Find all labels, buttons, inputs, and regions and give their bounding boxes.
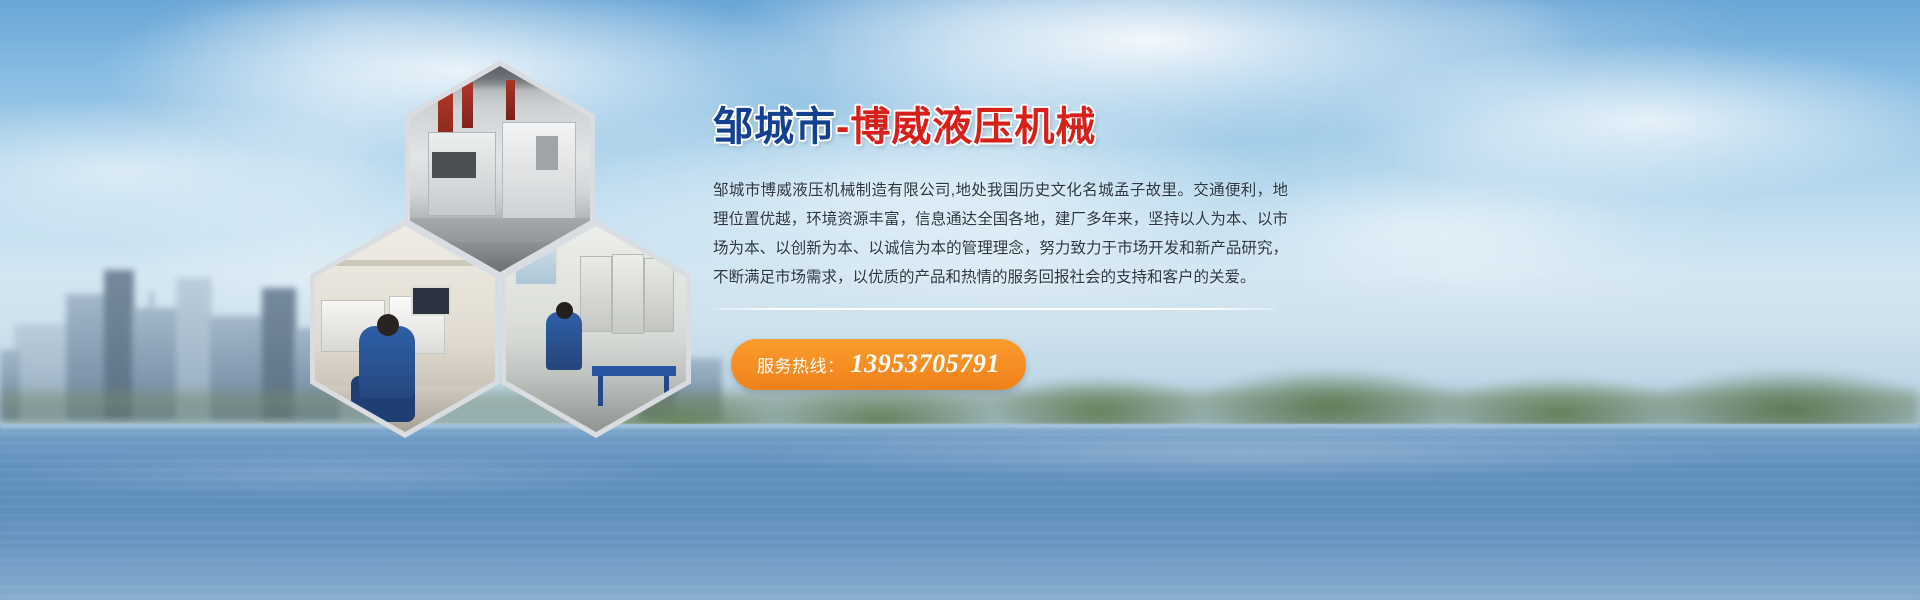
hexagon-photo-cluster — [305, 60, 705, 435]
company-title-city: 邹城市 — [713, 105, 836, 149]
hotline-badge[interactable]: 服务热线： 13953705791 — [731, 339, 1026, 390]
banner-text-panel: 邹城市-博威液压机械 邹城市博威液压机械制造有限公司,地处我国历史文化名城孟子故… — [713, 105, 1288, 390]
company-description: 邹城市博威液压机械制造有限公司,地处我国历史文化名城孟子故里。交通便利，地理位置… — [713, 176, 1288, 292]
divider — [713, 308, 1274, 310]
water-reflections — [0, 424, 1920, 600]
hotline-number: 13953705791 — [851, 349, 1001, 379]
company-hero-banner: 邹城市-博威液压机械 邹城市博威液压机械制造有限公司,地处我国历史文化名城孟子故… — [0, 0, 1920, 600]
company-title: 邹城市-博威液压机械 — [713, 105, 1288, 149]
company-title-brand: -博威液压机械 — [836, 105, 1096, 149]
hotline-label: 服务热线： — [757, 352, 845, 377]
hydraulic-test-bench-image — [506, 226, 686, 432]
laboratory-operator-image — [315, 226, 495, 432]
